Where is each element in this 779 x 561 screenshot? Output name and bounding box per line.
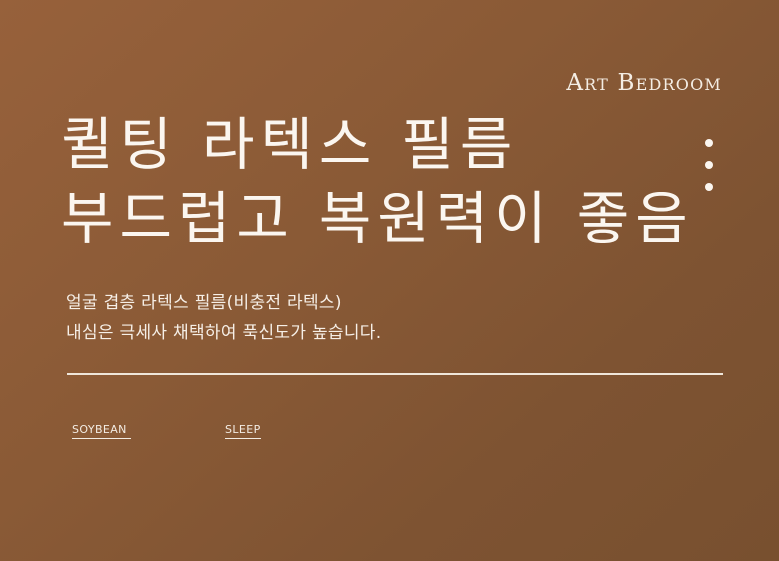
- headline-line-1: 퀼팅 라텍스 필름: [61, 108, 721, 182]
- footer-tag-sleep[interactable]: SLEEP: [225, 423, 261, 439]
- vertical-dots-decoration: [705, 139, 713, 191]
- body-copy-block: 얼굴 겹층 라텍스 필름(비충전 라텍스) 내심은 극세사 채택하여 푹신도가 …: [66, 288, 381, 348]
- dot-icon: [705, 139, 713, 147]
- footer-tag-soybean[interactable]: SOYBEAN: [72, 423, 131, 439]
- dot-icon: [705, 161, 713, 169]
- body-line-2: 내심은 극세사 채택하여 푹신도가 높습니다.: [66, 318, 381, 348]
- horizontal-divider: [67, 373, 723, 375]
- headline-block: 퀼팅 라텍스 필름 부드럽고 복원력이 좋음: [61, 108, 721, 256]
- brand-eyebrow: Art Bedroom: [566, 70, 722, 96]
- slide-canvas: Art Bedroom 퀼팅 라텍스 필름 부드럽고 복원력이 좋음 얼굴 겹층…: [0, 0, 779, 561]
- footer-tag-list: SOYBEAN SLEEP: [72, 423, 372, 443]
- headline-line-2: 부드럽고 복원력이 좋음: [61, 182, 721, 256]
- body-line-1: 얼굴 겹층 라텍스 필름(비충전 라텍스): [66, 288, 381, 318]
- dot-icon: [705, 183, 713, 191]
